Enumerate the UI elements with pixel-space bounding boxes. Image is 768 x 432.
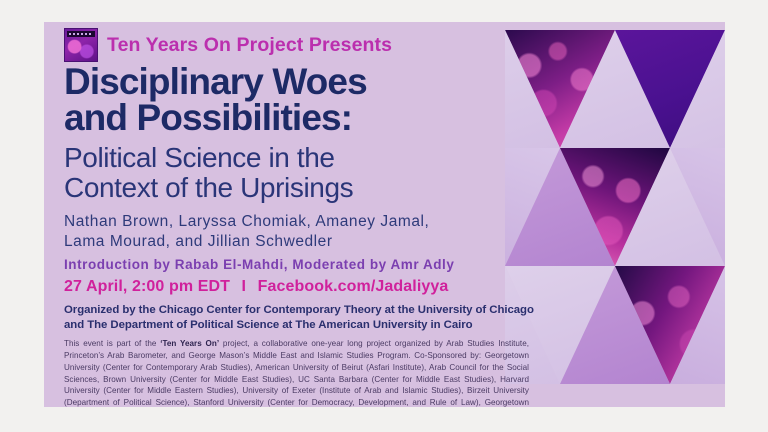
page-subtitle: Political Science in the Context of the …: [64, 143, 534, 203]
speakers-list: Nathan Brown, Laryssa Chomiak, Amaney Ja…: [64, 212, 534, 251]
organizer-line-1: Organized by the Chicago Center for Cont…: [64, 303, 534, 318]
title-line-2: and Possibilities:: [64, 100, 534, 136]
poster-text-column: Ten Years On Project Presents Disciplina…: [64, 28, 534, 407]
screenshot-canvas: Ten Years On Project Presents Disciplina…: [0, 0, 768, 432]
event-poster: Ten Years On Project Presents Disciplina…: [44, 22, 725, 407]
page-title: Disciplinary Woes and Possibilities:: [64, 64, 534, 136]
event-datetime: 27 April, 2:00 pm EDT: [64, 278, 230, 295]
separator-glyph: I: [235, 278, 254, 295]
kicker-row: Ten Years On Project Presents: [64, 28, 534, 62]
fine-print-after: project, a collaborative one-year long p…: [64, 339, 529, 407]
triangle-photo-mosaic: [505, 22, 725, 407]
fine-print-paragraph: This event is part of the ‘Ten Years On’…: [64, 338, 529, 407]
speakers-line-1: Nathan Brown, Laryssa Chomiak, Amaney Ja…: [64, 212, 534, 231]
ten-years-on-logo-icon: [64, 28, 98, 62]
fine-print-before: This event is part of the: [64, 339, 160, 348]
kicker-text: Ten Years On Project Presents: [107, 34, 392, 57]
subtitle-line-1: Political Science in the: [64, 143, 534, 173]
subtitle-line-2: Context of the Uprisings: [64, 173, 534, 203]
fine-print-project-name: ‘Ten Years On’: [160, 339, 219, 348]
title-line-1: Disciplinary Woes: [64, 64, 534, 100]
introduction-moderator-line: Introduction by Rabab El-Mahdi, Moderate…: [64, 257, 534, 272]
organizer-block: Organized by the Chicago Center for Cont…: [64, 303, 534, 333]
organizer-line-2: and The Department of Political Science …: [64, 318, 534, 333]
date-and-link-row: 27 April, 2:00 pm EDT I Facebook.com/Jad…: [64, 278, 534, 296]
speakers-line-2: Lama Mourad, and Jillian Schwedler: [64, 232, 534, 251]
event-link[interactable]: Facebook.com/Jadaliyya: [258, 278, 449, 295]
